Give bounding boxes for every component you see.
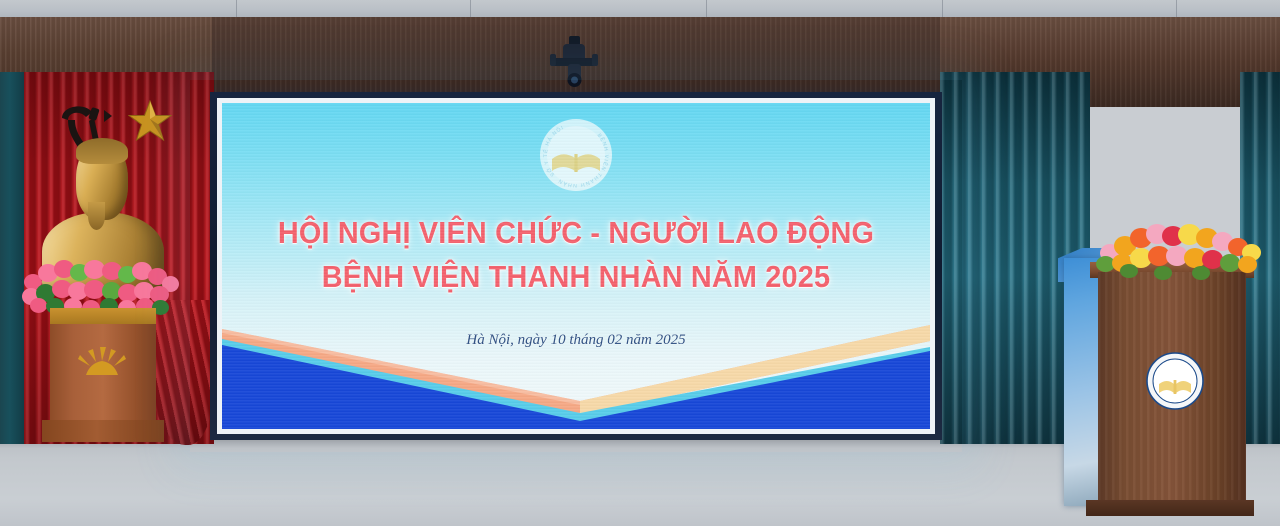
pedestal-base <box>42 420 164 442</box>
ho-chi-minh-bust <box>20 140 180 440</box>
ceiling-seam <box>706 0 707 18</box>
ceiling-seam <box>942 0 943 18</box>
podium-flower-arrangement <box>1092 222 1268 278</box>
slide-title: HỘI NGHỊ VIÊN CHỨC - NGƯỜI LAO ĐỘNG BỆNH… <box>247 211 905 299</box>
ceiling-seam <box>470 0 471 18</box>
ceiling-seam <box>236 0 237 18</box>
hospital-seal-icon: SỞ Y TẾ HÀ NỘI BỆNH VIỆN THANH NHÀN <box>538 117 614 193</box>
sun-ray-emblem-icon <box>76 345 128 377</box>
conference-hall-scene: SỞ Y TẾ HÀ NỘI BỆNH VIỆN THANH NHÀN HỘI … <box>0 0 1280 526</box>
bust-hair <box>76 138 128 164</box>
ceiling-seam <box>1176 0 1177 18</box>
presentation-slide[interactable]: SỞ Y TẾ HÀ NỘI BỆNH VIỆN THANH NHÀN HỘI … <box>222 103 930 429</box>
slide-title-line-2: BỆNH VIỆN THANH NHÀN NĂM 2025 <box>247 255 905 299</box>
slide-title-line-1: HỘI NGHỊ VIÊN CHỨC - NGƯỜI LAO ĐỘNG <box>247 211 905 255</box>
slide-chevron-decoration <box>222 317 930 429</box>
gold-star-icon <box>128 100 172 142</box>
podium-hospital-logo-icon <box>1146 352 1204 410</box>
ceiling <box>0 0 1280 18</box>
bust-beard <box>88 202 105 230</box>
ceiling-camera-icon <box>544 36 604 94</box>
podium-base <box>1086 500 1254 516</box>
